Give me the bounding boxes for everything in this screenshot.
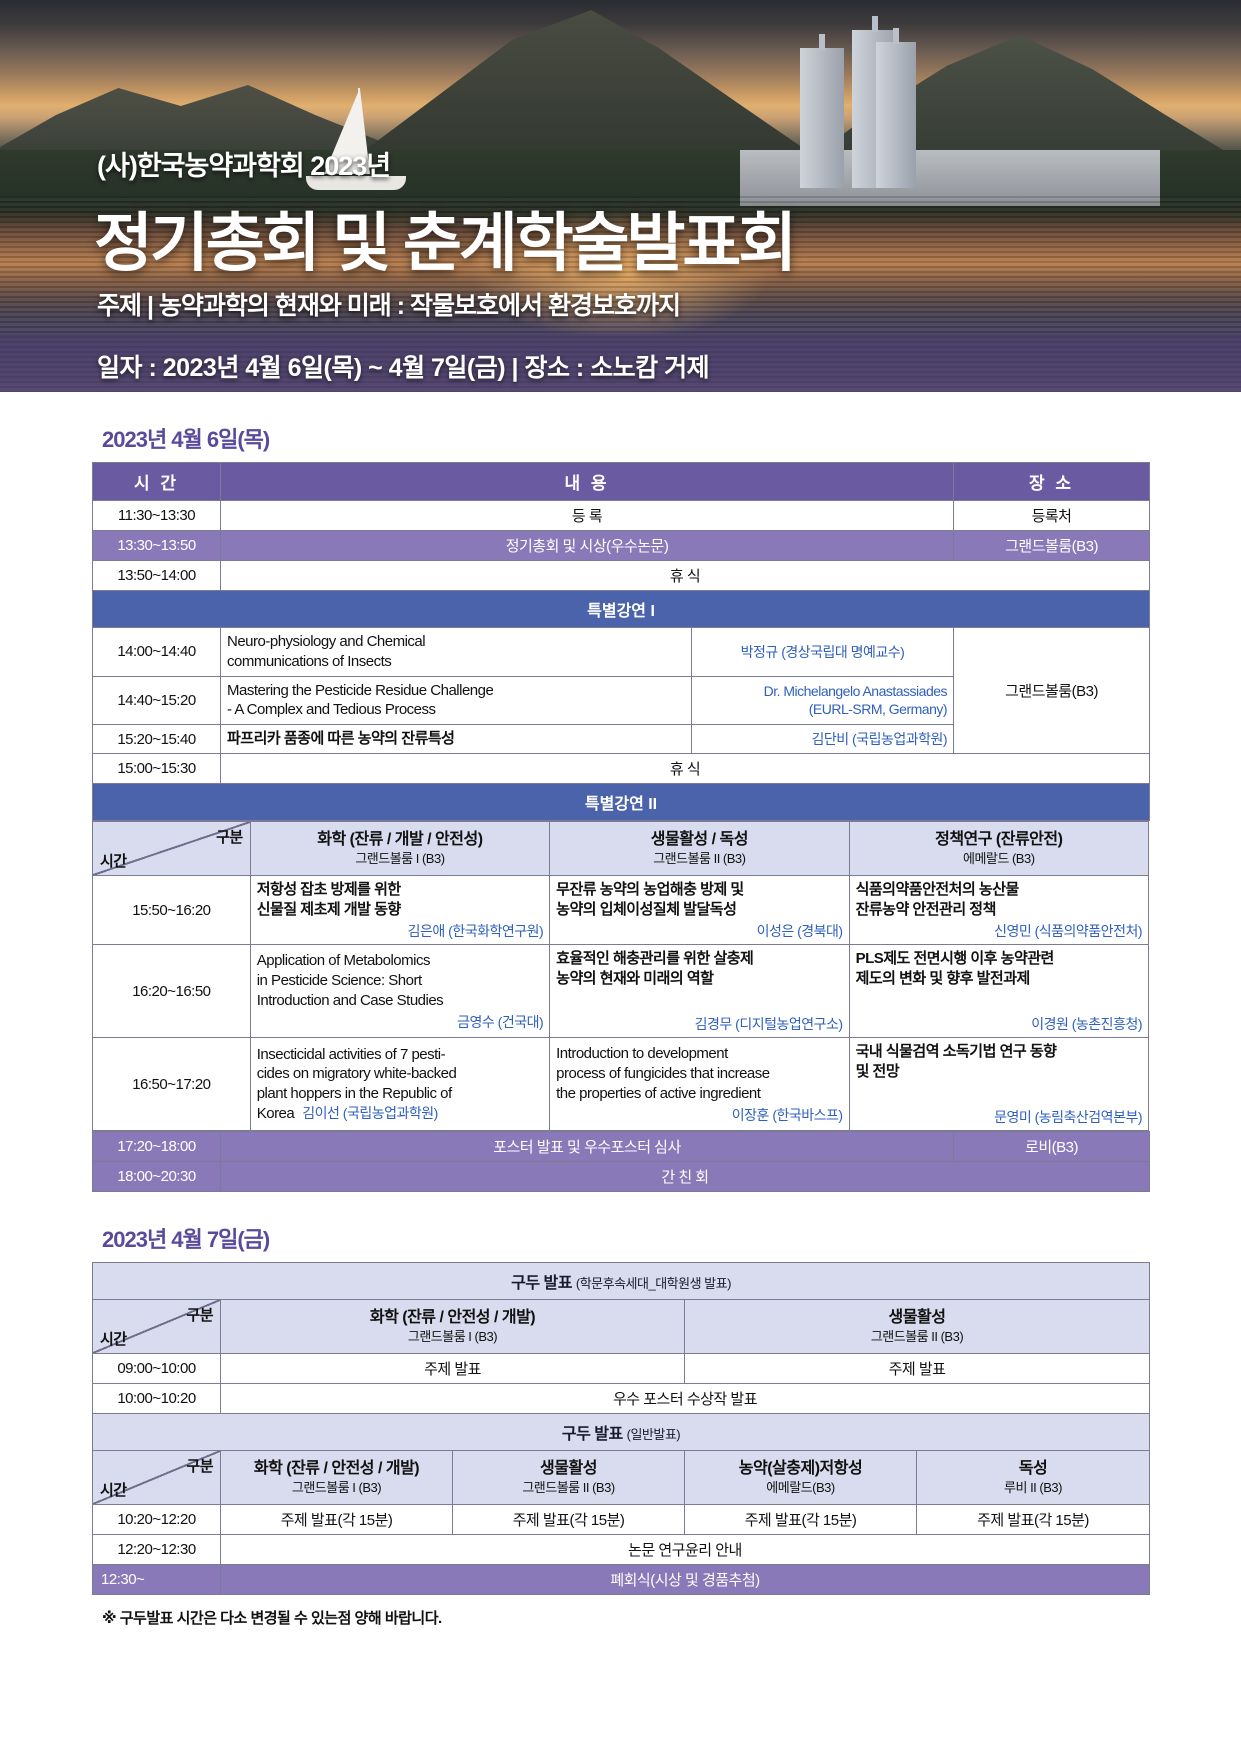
table-row: 14:00~14:40 Neuro-physiology and Chemica… — [93, 628, 1150, 677]
lecture-speaker: 김단비 (국립농업과학원) — [692, 725, 954, 754]
session-cell: 저항성 잡초 방제를 위한 신물질 제초제 개발 동향 김은애 (한국화학연구원… — [250, 875, 549, 944]
talk-title-line: 저항성 잡초 방제를 위한 — [257, 880, 543, 900]
row-content: 포스터 발표 및 우수포스터 심사 — [221, 1132, 954, 1162]
corner-label-category: 구분 — [186, 1455, 213, 1476]
row-time: 17:20~18:00 — [93, 1132, 221, 1162]
track-room: 그랜드볼룸 II (B3) — [554, 851, 844, 867]
talk-title-line: Application of Metabolomics — [257, 951, 543, 971]
track-header: 화학 (잔류 / 안전성 / 개발) 그랜드볼룸 I (B3) — [221, 1451, 453, 1505]
track-header-row: 구분 시간 화학 (잔류 / 개발 / 안전성) 그랜드볼룸 I (B3) 생물… — [93, 821, 1149, 875]
table-row: 10:20~12:20 주제 발표(각 15분) 주제 발표(각 15분) 주제… — [93, 1505, 1150, 1535]
session-cell: PLS제도 전면시행 이후 농약관련 제도의 변화 및 향후 발전과제 이경원 … — [849, 945, 1148, 1038]
oral-session-2-band-row: 구두 발표 (일반발표) — [93, 1414, 1150, 1451]
speaker-name: Dr. Michelangelo Anastassiades — [698, 682, 947, 700]
lecture-title-line: Mastering the Pesticide Residue Challeng… — [227, 681, 685, 701]
lecture-title-line: - A Complex and Tedious Process — [227, 700, 685, 720]
track-header: 생물활성 그랜드볼룸 II (B3) — [685, 1300, 1150, 1354]
corner-label-time: 시간 — [100, 1479, 127, 1500]
table-row: 13:30~13:50 정기총회 및 시상(우수논문) 그랜드볼룸(B3) — [93, 531, 1150, 561]
session-cell: Introduction to development process of f… — [550, 1038, 849, 1131]
track-header-row: 구분 시간 화학 (잔류 / 안전성 / 개발) 그랜드볼룸 I (B3) 생물… — [93, 1451, 1150, 1505]
lecture-title-line: Neuro-physiology and Chemical — [227, 632, 685, 652]
track-name: 농약(살충제)저항성 — [739, 1460, 862, 1477]
track-name: 생물활성 — [889, 1309, 946, 1326]
session-cell: 국내 식물검역 소독기법 연구 동향 및 전망 문영미 (농림축산검역본부) — [849, 1038, 1148, 1131]
table-row: 12:20~12:30 논문 연구윤리 안내 — [93, 1535, 1150, 1565]
organization-line: (사)한국농약과학회 2023년 — [97, 144, 390, 183]
speaker-name: 이경원 (농촌진흥청) — [856, 1015, 1142, 1033]
program-content: 2023년 4월 6일(목) 시 간 내 용 장 소 11:30~13:30 등… — [0, 422, 1241, 1628]
track-room: 루비 II (B3) — [921, 1480, 1145, 1496]
special-lecture-2-band: 특별강연 II — [93, 783, 1150, 820]
day1-heading: 2023년 4월 6일(목) — [102, 422, 1149, 454]
talk-title-line: cides on migratory white-backed — [257, 1064, 543, 1084]
talk-title-line: Korea — [257, 1105, 295, 1122]
row-time: 09:00~10:00 — [93, 1354, 221, 1384]
speaker-name: 금영수 (건국대) — [257, 1013, 543, 1031]
row-content: 주제 발표 — [685, 1354, 1150, 1384]
speaker-name: 김단비 (국립농업과학원) — [812, 731, 948, 747]
track-header: 농약(살충제)저항성 에메랄드(B3) — [685, 1451, 917, 1505]
row-content: 휴 식 — [221, 753, 1150, 783]
track-room: 에메랄드 (B3) — [854, 851, 1144, 867]
track-header: 독성 루비 II (B3) — [917, 1451, 1150, 1505]
row-time: 18:00~20:30 — [93, 1162, 221, 1192]
row-content: 폐회식(시상 및 경품추첨) — [221, 1565, 1150, 1595]
row-place: 등록처 — [954, 501, 1150, 531]
hero-banner: (사)한국농약과학회 2023년 정기총회 및 춘계학술발표회 주제 | 농약과… — [0, 0, 1241, 392]
row-content: 정기총회 및 시상(우수논문) — [221, 531, 954, 561]
lecture-title: 파프리카 품종에 따른 농약의 잔류특성 — [221, 725, 692, 754]
track-header: 화학 (잔류 / 안전성 / 개발) 그랜드볼룸 I (B3) — [221, 1300, 685, 1354]
row-content: 논문 연구윤리 안내 — [221, 1535, 1150, 1565]
lecture-title: Neuro-physiology and Chemical communicat… — [221, 628, 692, 677]
row-time: 10:20~12:20 — [93, 1505, 221, 1535]
track-header: 생물활성 / 독성 그랜드볼룸 II (B3) — [550, 821, 849, 875]
talk-title-line: in Pesticide Science: Short — [257, 971, 543, 991]
talk-title-line: 잔류농약 안전관리 정책 — [856, 900, 1142, 920]
talk-title-line: 및 전망 — [856, 1062, 1142, 1082]
track-room: 그랜드볼룸 I (B3) — [225, 1329, 680, 1345]
table-row: 10:00~10:20 우수 포스터 수상작 발표 — [93, 1384, 1150, 1414]
table-row: 18:00~20:30 간 친 회 — [93, 1162, 1150, 1192]
row-time: 11:30~13:30 — [93, 501, 221, 531]
lecture-speaker: Dr. Michelangelo Anastassiades (EURL-SRM… — [692, 676, 954, 725]
col-header-time: 시 간 — [93, 463, 221, 501]
col-header-place: 장 소 — [954, 463, 1150, 501]
day1-closing-table: 17:20~18:00 포스터 발표 및 우수포스터 심사 로비(B3) 18:… — [92, 1131, 1150, 1192]
special-lecture-2-band-row: 특별강연 II — [93, 783, 1150, 820]
table-row: 16:50~17:20 Insecticidal activities of 7… — [93, 1038, 1149, 1131]
row-content: 우수 포스터 수상작 발표 — [221, 1384, 1150, 1414]
track-header: 생물활성 그랜드볼룸 II (B3) — [453, 1451, 685, 1505]
row-time: 13:30~13:50 — [93, 531, 221, 561]
band-main-label: 구두 발표 — [511, 1275, 572, 1292]
track-header-row: 구분 시간 화학 (잔류 / 안전성 / 개발) 그랜드볼룸 I (B3) 생물… — [93, 1300, 1150, 1354]
lecture-title: Mastering the Pesticide Residue Challeng… — [221, 676, 692, 725]
lecture-title-line: 파프리카 품종에 따른 농약의 잔류특성 — [227, 729, 685, 749]
row-content: 주제 발표(각 15분) — [221, 1505, 453, 1535]
row-time: 13:50~14:00 — [93, 561, 221, 591]
oral-session-2-band: 구두 발표 (일반발표) — [93, 1414, 1150, 1451]
table-row: 13:50~14:00 휴 식 — [93, 561, 1150, 591]
row-content: 간 친 회 — [221, 1162, 1150, 1192]
day1-schedule-table: 시 간 내 용 장 소 11:30~13:30 등 록 등록처 13:30~13… — [92, 462, 1150, 821]
day2-heading: 2023년 4월 7일(금) — [102, 1222, 1149, 1254]
day1-parallel-sessions-table: 구분 시간 화학 (잔류 / 개발 / 안전성) 그랜드볼룸 I (B3) 생물… — [92, 821, 1149, 1131]
row-content: 주제 발표(각 15분) — [685, 1505, 917, 1535]
speaker-affiliation: (EURL-SRM, Germany) — [698, 700, 947, 718]
row-content: 휴 식 — [221, 561, 1150, 591]
row-time: 15:50~16:20 — [93, 875, 251, 944]
table-header-row: 시 간 내 용 장 소 — [93, 463, 1150, 501]
corner-label-category: 구분 — [216, 826, 243, 847]
band-main-label: 구두 발표 — [562, 1426, 623, 1443]
talk-title-line: 식품의약품안전처의 농산물 — [856, 880, 1142, 900]
session-cell: Application of Metabolomics in Pesticide… — [250, 945, 549, 1038]
track-header: 정책연구 (잔류안전) 에메랄드 (B3) — [849, 821, 1148, 875]
band-sub-label: (일반발표) — [627, 1427, 681, 1442]
session-cell: Insecticidal activities of 7 pesti- cide… — [250, 1038, 549, 1131]
footnote: ※ 구두발표 시간은 다소 변경될 수 있는점 양해 바랍니다. — [102, 1607, 1149, 1628]
corner-label-category: 구분 — [186, 1304, 213, 1325]
special-lecture-1-band: 특별강연 I — [93, 591, 1150, 628]
track-room: 에메랄드(B3) — [689, 1480, 912, 1496]
talk-title-line: 농약의 입체이성질체 발달독성 — [556, 900, 842, 920]
row-time: 14:40~15:20 — [93, 676, 221, 725]
speaker-name: 김경무 (디지털농업연구소) — [556, 1015, 842, 1033]
track-name: 화학 (잔류 / 안전성 / 개발) — [254, 1460, 419, 1477]
row-time: 15:20~15:40 — [93, 725, 221, 754]
table-row: 11:30~13:30 등 록 등록처 — [93, 501, 1150, 531]
corner-label-time: 시간 — [100, 850, 127, 871]
row-content: 주제 발표(각 15분) — [917, 1505, 1150, 1535]
speaker-name: 이장훈 (한국바스프) — [556, 1106, 842, 1124]
row-content: 주제 발표(각 15분) — [453, 1505, 685, 1535]
event-title: 정기총회 및 춘계학술발표회 — [94, 192, 794, 284]
track-name: 독성 — [1019, 1460, 1047, 1477]
speaker-name: 김은애 (한국화학연구원) — [257, 922, 543, 940]
table-row: 15:50~16:20 저항성 잡초 방제를 위한 신물질 제초제 개발 동향 … — [93, 875, 1149, 944]
session-cell: 무잔류 농약의 농업해충 방제 및 농약의 입체이성질체 발달독성 이성은 (경… — [550, 875, 849, 944]
track-name: 화학 (잔류 / 안전성 / 개발) — [370, 1309, 535, 1326]
oral-session-1-band-row: 구두 발표 (학문후속세대_대학원생 발표) — [93, 1263, 1150, 1300]
talk-title-line: Insecticidal activities of 7 pesti- — [257, 1045, 543, 1065]
track-name: 생물활성 — [540, 1460, 597, 1477]
row-time: 16:50~17:20 — [93, 1038, 251, 1131]
speaker-name: 김이선 (국립농업과학원) — [302, 1105, 438, 1121]
row-place: 그랜드볼룸(B3) — [954, 628, 1150, 754]
track-header: 화학 (잔류 / 개발 / 안전성) 그랜드볼룸 I (B3) — [250, 821, 549, 875]
session-cell: 효율적인 해충관리를 위한 살충제 농약의 현재와 미래의 역할 김경무 (디지… — [550, 945, 849, 1038]
special-lecture-1-band-row: 특별강연 I — [93, 591, 1150, 628]
track-room: 그랜드볼룸 I (B3) — [255, 851, 545, 867]
col-header-content: 내 용 — [221, 463, 954, 501]
row-content: 주제 발표 — [221, 1354, 685, 1384]
lecture-speaker: 박정규 (경상국립대 명예교수) — [692, 628, 954, 677]
date-venue-text: 일자 : 2023년 4월 6일(목) ~ 4월 7일(금) | 장소 : 소노… — [97, 348, 709, 384]
talk-title-line: Introduction and Case Studies — [257, 991, 543, 1011]
talk-title-line: 무잔류 농약의 농업해충 방제 및 — [556, 880, 842, 900]
row-time: 15:00~15:30 — [93, 753, 221, 783]
table-row: 12:30~ 폐회식(시상 및 경품추첨) — [93, 1565, 1150, 1595]
track-room: 그랜드볼룸 II (B3) — [457, 1480, 680, 1496]
talk-title-line: Introduction to development — [556, 1044, 842, 1064]
talk-title-line: 농약의 현재와 미래의 역할 — [556, 969, 842, 989]
band-sub-label: (학문후속세대_대학원생 발표) — [576, 1276, 731, 1291]
speaker-name: 신영민 (식품의약품안전처) — [856, 922, 1142, 940]
event-topic: 주제 | 농약과학의 현재와 미래 : 작물보호에서 환경보호까지 — [97, 286, 680, 322]
time-category-corner: 구분 시간 — [93, 1300, 221, 1354]
table-row: 15:00~15:30 휴 식 — [93, 753, 1150, 783]
day2-schedule-table: 구두 발표 (학문후속세대_대학원생 발표) 구분 시간 화학 (잔류 / 안전… — [92, 1262, 1150, 1595]
time-category-corner: 구분 시간 — [93, 821, 251, 875]
speaker-name: 박정규 (경상국립대 명예교수) — [741, 644, 905, 660]
session-cell: 식품의약품안전처의 농산물 잔류농약 안전관리 정책 신영민 (식품의약품안전처… — [849, 875, 1148, 944]
talk-title-line: 신물질 제초제 개발 동향 — [257, 900, 543, 920]
row-time: 16:20~16:50 — [93, 945, 251, 1038]
talk-title-line: 국내 식물검역 소독기법 연구 동향 — [856, 1042, 1142, 1062]
corner-label-time: 시간 — [100, 1328, 127, 1349]
talk-title-line: PLS제도 전면시행 이후 농약관련 — [856, 949, 1142, 969]
row-place: 그랜드볼룸(B3) — [954, 531, 1150, 561]
row-time: 14:00~14:40 — [93, 628, 221, 677]
track-name: 생물활성 / 독성 — [651, 831, 748, 848]
oral-session-1-band: 구두 발표 (학문후속세대_대학원생 발표) — [93, 1263, 1150, 1300]
talk-title-line: process of fungicides that increase — [556, 1064, 842, 1084]
row-time: 12:30~ — [93, 1565, 221, 1595]
talk-title-line: 효율적인 해충관리를 위한 살충제 — [556, 949, 842, 969]
talk-title-line: plant hoppers in the Republic of — [257, 1084, 543, 1104]
track-name: 화학 (잔류 / 개발 / 안전성) — [317, 831, 482, 848]
row-time: 12:20~12:30 — [93, 1535, 221, 1565]
row-content: 등 록 — [221, 501, 954, 531]
talk-title-line: 제도의 변화 및 향후 발전과제 — [856, 969, 1142, 989]
speaker-name: 문영미 (농림축산검역본부) — [856, 1108, 1142, 1126]
banner-text-block: (사)한국농약과학회 2023년 정기총회 및 춘계학술발표회 주제 | 농약과… — [0, 0, 1241, 392]
table-row: 09:00~10:00 주제 발표 주제 발표 — [93, 1354, 1150, 1384]
speaker-name: 이성은 (경북대) — [556, 922, 842, 940]
track-name: 정책연구 (잔류안전) — [935, 831, 1062, 848]
track-room: 그랜드볼룸 II (B3) — [689, 1329, 1145, 1345]
time-category-corner: 구분 시간 — [93, 1451, 221, 1505]
table-row: 16:20~16:50 Application of Metabolomics … — [93, 945, 1149, 1038]
talk-title-line: the properties of active ingredient — [556, 1084, 842, 1104]
lecture-title-line: communications of Insects — [227, 652, 685, 672]
row-place: 로비(B3) — [954, 1132, 1150, 1162]
track-room: 그랜드볼룸 I (B3) — [225, 1480, 448, 1496]
row-time: 10:00~10:20 — [93, 1384, 221, 1414]
table-row: 17:20~18:00 포스터 발표 및 우수포스터 심사 로비(B3) — [93, 1132, 1150, 1162]
